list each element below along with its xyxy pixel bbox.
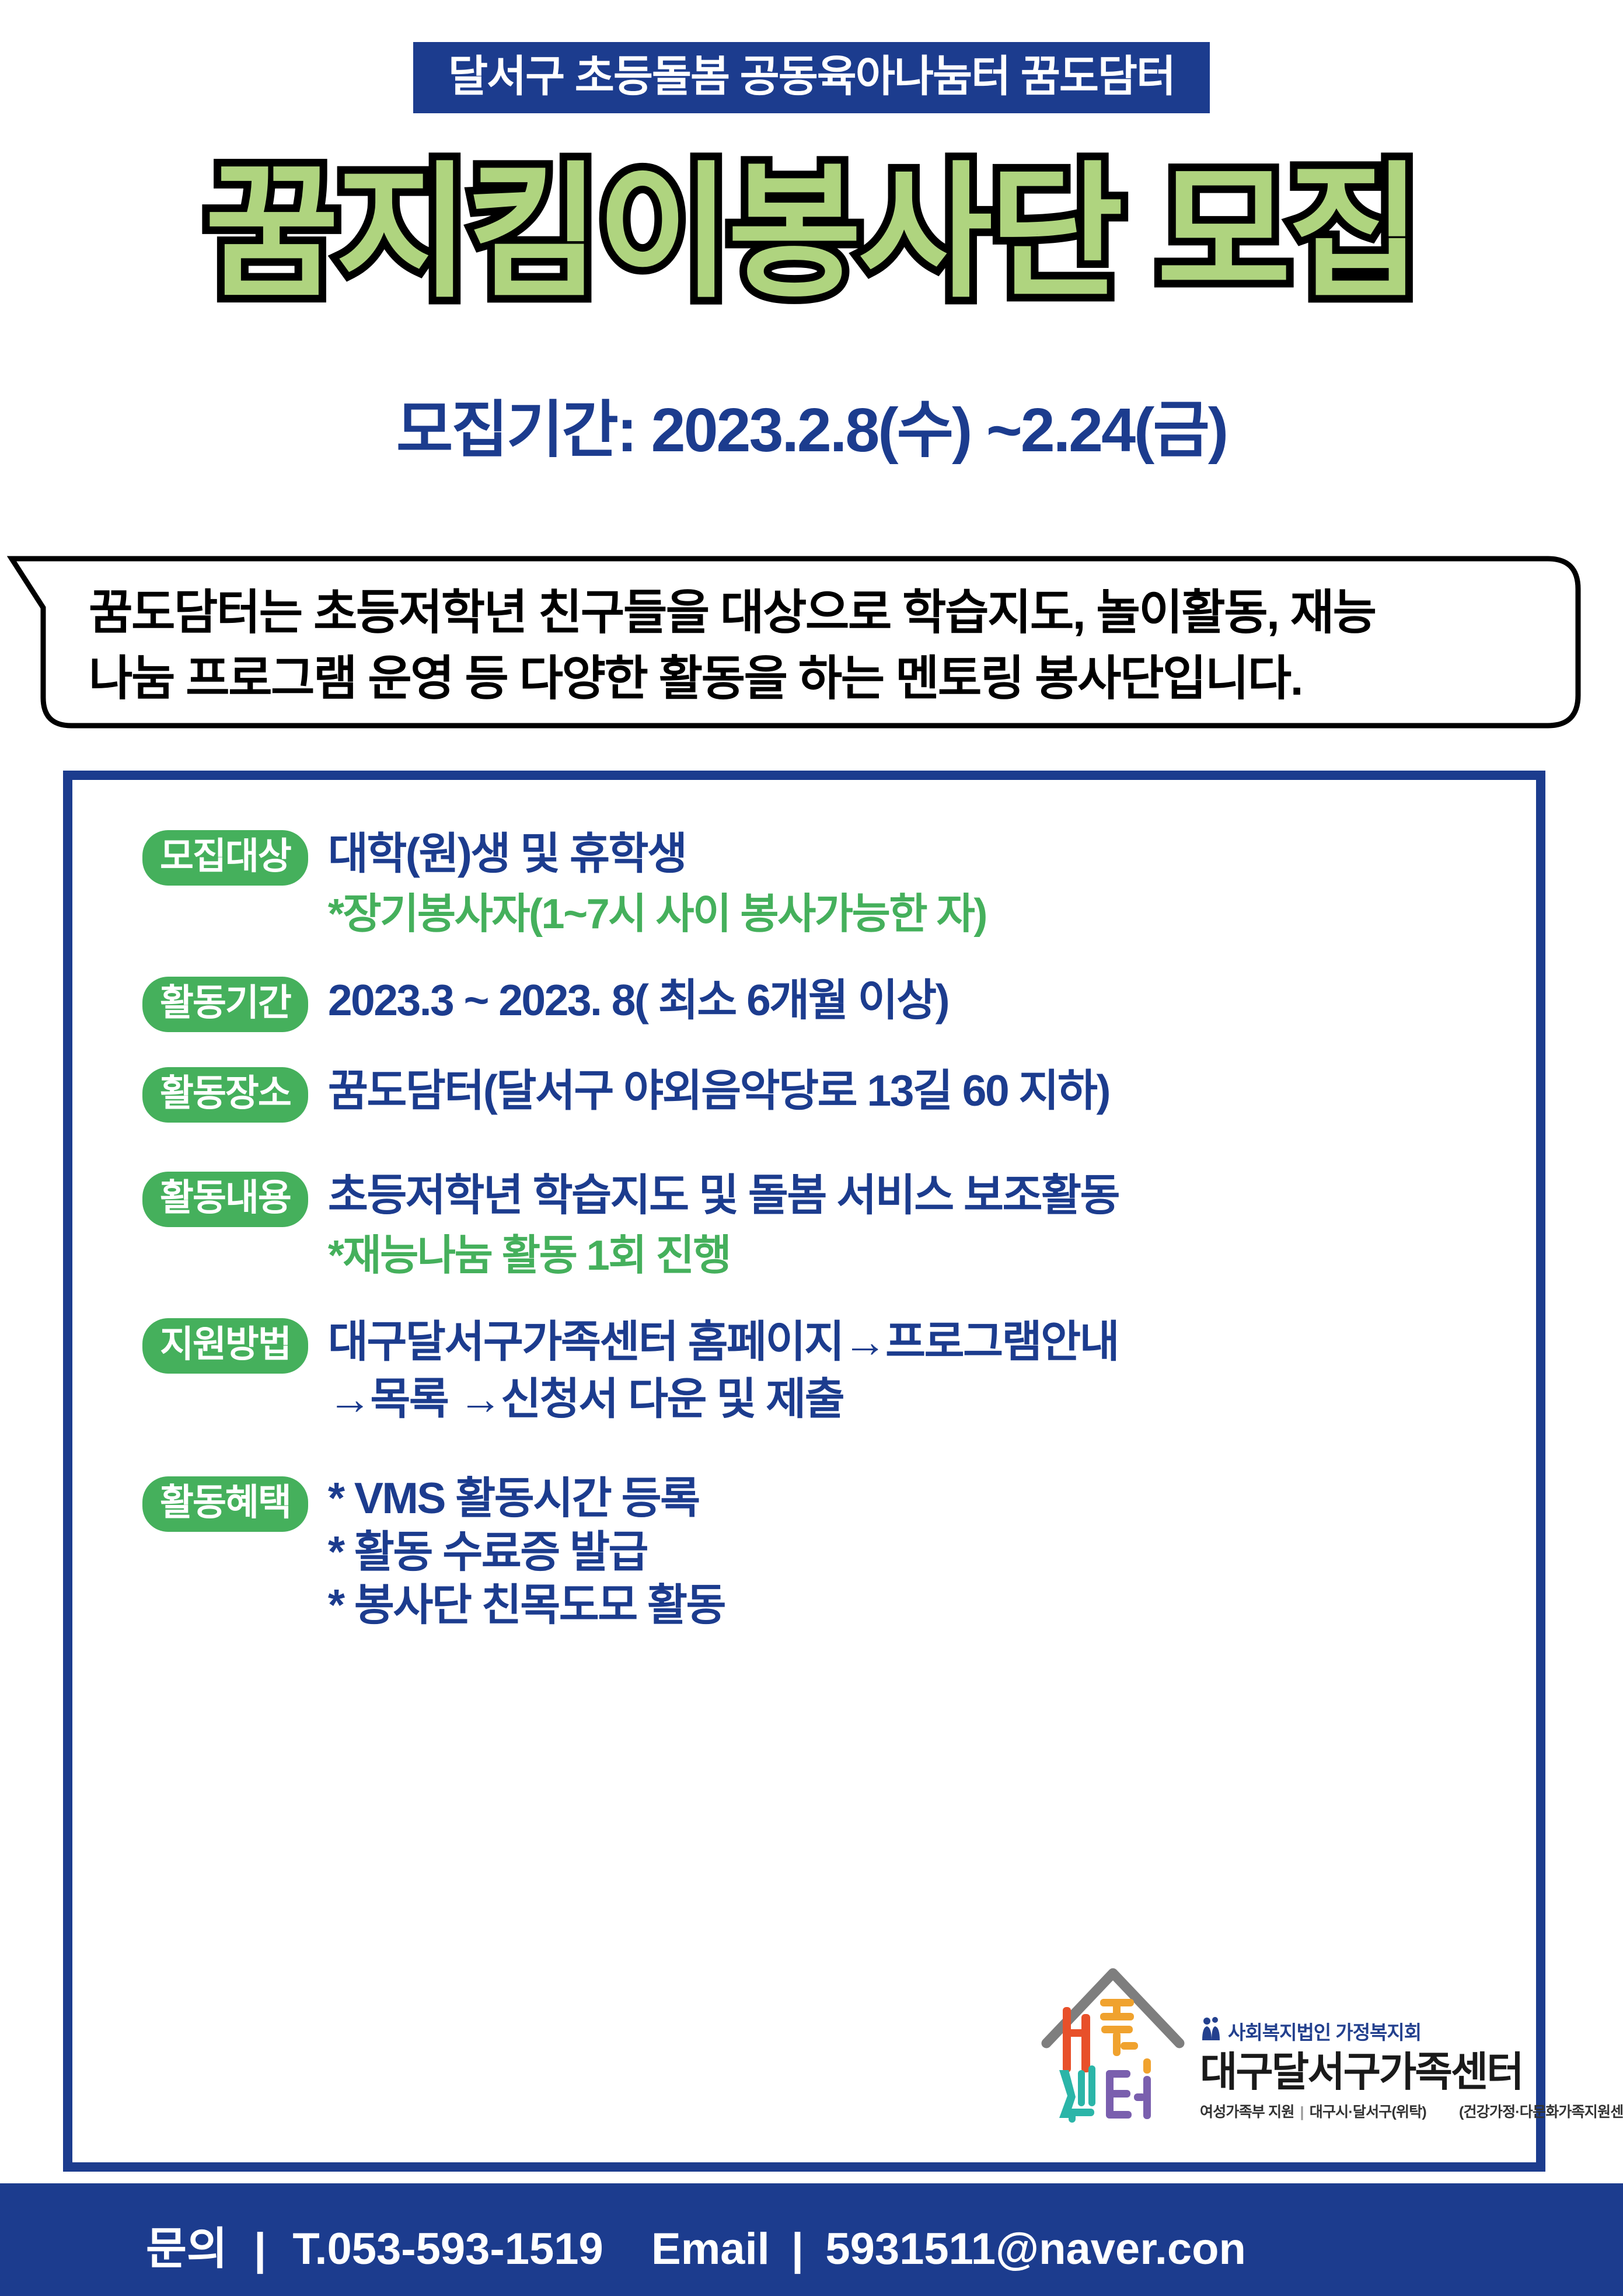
value-activity: 초등저학년 학습지도 및 돌봄 서비스 보조활동	[328, 1167, 1520, 1224]
footer-separator-2: |	[791, 2224, 804, 2274]
detail-row-activity: 활동내용 초등저학년 학습지도 및 돌봄 서비스 보조활동 *재능나눔 활동 1…	[142, 1167, 1520, 1283]
family-figure-icon	[1200, 2016, 1222, 2046]
header-banner-container: 달서구 초등돌봄 공동육아나눔터 꿈도담터	[0, 42, 1623, 113]
value-apply-line-2: →목록 →신청서 다운 및 제출	[328, 1371, 1520, 1428]
footer-contact: 문의 | T.053-593-1519 Email | 5931511@nave…	[146, 2213, 1246, 2277]
spacer	[142, 1140, 1520, 1167]
footer-inquiry-label: 문의	[146, 2224, 228, 2274]
recruitment-period: 모집기간: 2023.2.8(수) ~2.24(금)	[396, 379, 1227, 469]
parent-org-name: 사회복지법인 가정복지회	[1228, 2017, 1421, 2045]
detail-body-benefits: * VMS 활동시간 등록 * 활동 수료증 발급 * 봉사단 친목도모 활동	[328, 1472, 1520, 1632]
family-center-logo-mark	[1036, 1956, 1191, 2125]
speech-bubble-text: 꿈도담터는 초등저학년 친구들을 대상으로 학습지도, 놀이활동, 재능 나눔 …	[89, 580, 1542, 712]
logo-text-block: 사회복지법인 가정복지회 대구달서구가족센터 여성가족부 지원 | 대구시·달서…	[1200, 2016, 1623, 2126]
logo-sub-right: (건강가정·다문화가족지원센터)	[1459, 2100, 1623, 2121]
detail-row-benefits: 활동혜택 * VMS 활동시간 등록 * 활동 수료증 발급 * 봉사단 친목도…	[142, 1472, 1520, 1632]
logo-sub-divider: |	[1300, 2104, 1304, 2121]
organization-logo: 사회복지법인 가정복지회 대구달서구가족센터 여성가족부 지원 | 대구시·달서…	[1036, 1950, 1532, 2125]
footer-separator-1: |	[254, 2224, 266, 2274]
footer-phone: T.053-593-1519	[292, 2224, 603, 2274]
center-name: 대구달서구가족센터	[1200, 2051, 1623, 2094]
spacer	[142, 1445, 1520, 1472]
speech-bubble-line-2: 나눔 프로그램 운영 등 다양한 활동을 하는 멘토링 봉사단입니다.	[89, 646, 1542, 712]
detail-body-location: 꿈도담터(달서구 야외음악당로 13길 60 지하)	[328, 1062, 1520, 1120]
spacer	[142, 1301, 1520, 1314]
label-activity: 활동내용	[142, 1172, 308, 1227]
page-title: 꿈지킴이봉사단 모집	[205, 156, 1418, 310]
label-period: 활동기간	[142, 977, 308, 1032]
detail-row-apply: 지원방법 대구달서구가족센터 홈페이지→프로그램안내 →목록 →신청서 다운 및…	[142, 1314, 1520, 1427]
speech-bubble-line-1: 꿈도담터는 초등저학년 친구들을 대상으로 학습지도, 놀이활동, 재능	[89, 580, 1542, 646]
recruitment-period-container: 모집기간: 2023.2.8(수) ~2.24(금)	[0, 379, 1623, 469]
footer-email: 5931511@naver.con	[825, 2224, 1246, 2274]
note-activity: *재능나눔 활동 1회 진행	[328, 1229, 1520, 1284]
spacer	[142, 959, 1520, 972]
benefit-item-2: * 활동 수료증 발급	[328, 1525, 1520, 1579]
detail-row-period: 활동기간 2023.3 ~ 2023. 8( 최소 6개월 이상)	[142, 972, 1520, 1032]
detail-body-activity: 초등저학년 학습지도 및 돌봄 서비스 보조활동 *재능나눔 활동 1회 진행	[328, 1167, 1520, 1283]
logo-sub-mid: 대구시·달서구(위탁)	[1310, 2100, 1426, 2121]
logo-sub-left: 여성가족부 지원	[1200, 2100, 1294, 2121]
label-location: 활동장소	[142, 1067, 308, 1123]
label-apply: 지원방법	[142, 1318, 308, 1374]
speech-bubble: 꿈도담터는 초등저학년 친구들을 대상으로 학습지도, 놀이활동, 재능 나눔 …	[7, 552, 1583, 733]
header-banner: 달서구 초등돌봄 공동육아나눔터 꿈도담터	[413, 42, 1210, 113]
benefit-item-3: * 봉사단 친목도모 활동	[328, 1579, 1520, 1632]
label-target: 모집대상	[142, 830, 308, 886]
house-roof-icon	[1036, 1956, 1191, 2125]
value-target: 대학(원)생 및 휴학생	[328, 825, 1520, 883]
note-target: *장기봉사자(1~7시 사이 봉사가능한 자)	[328, 887, 1520, 942]
details-rows: 모집대상 대학(원)생 및 휴학생 *장기봉사자(1~7시 사이 봉사가능한 자…	[142, 825, 1520, 1650]
parent-org-line: 사회복지법인 가정복지회	[1200, 2016, 1623, 2046]
footer-bar: 문의 | T.053-593-1519 Email | 5931511@nave…	[0, 2183, 1623, 2296]
value-location: 꿈도담터(달서구 야외음악당로 13길 60 지하)	[328, 1062, 1520, 1120]
detail-body-target: 대학(원)생 및 휴학생 *장기봉사자(1~7시 사이 봉사가능한 자)	[328, 825, 1520, 942]
detail-row-target: 모집대상 대학(원)생 및 휴학생 *장기봉사자(1~7시 사이 봉사가능한 자…	[142, 825, 1520, 942]
detail-body-apply: 대구달서구가족센터 홈페이지→프로그램안내 →목록 →신청서 다운 및 제출	[328, 1314, 1520, 1427]
value-apply-line-1: 대구달서구가족센터 홈페이지→프로그램안내	[328, 1314, 1520, 1371]
label-benefits: 활동혜택	[142, 1476, 308, 1532]
logo-subline: 여성가족부 지원 | 대구시·달서구(위탁) (건강가정·다문화가족지원센터)	[1200, 2100, 1623, 2121]
detail-row-location: 활동장소 꿈도담터(달서구 야외음악당로 13길 60 지하)	[142, 1062, 1520, 1123]
footer-email-label: Email	[651, 2224, 770, 2274]
value-period: 2023.3 ~ 2023. 8( 최소 6개월 이상)	[328, 972, 1520, 1029]
benefit-item-1: * VMS 활동시간 등록	[328, 1472, 1520, 1525]
main-title-container: 꿈지킴이봉사단 모집	[0, 156, 1623, 310]
spacer	[142, 1050, 1520, 1062]
detail-body-period: 2023.3 ~ 2023. 8( 최소 6개월 이상)	[328, 972, 1520, 1029]
